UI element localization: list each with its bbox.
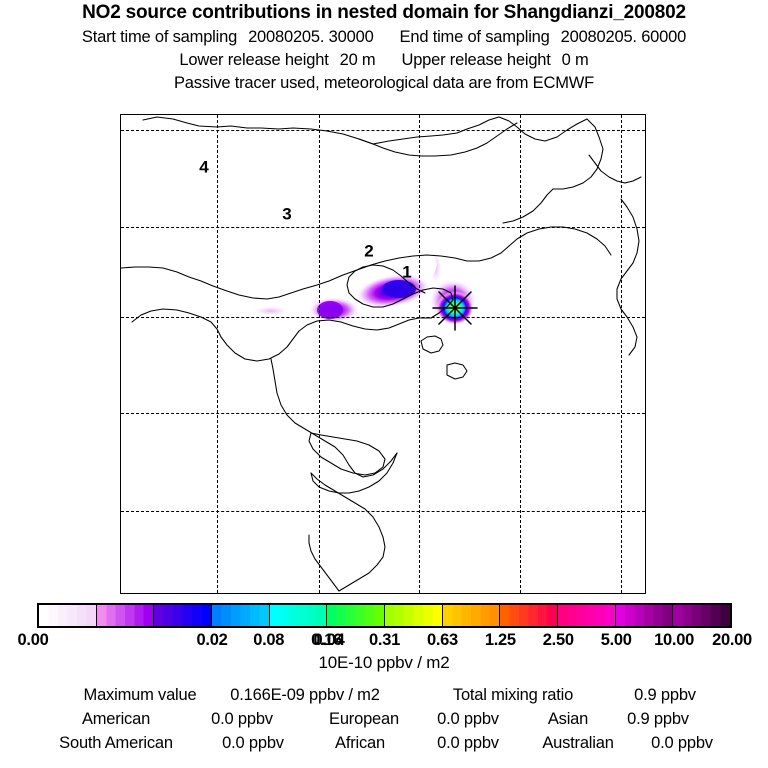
region-label-asian: Asian (548, 708, 588, 730)
trajectory-label-4: 4 (199, 159, 208, 176)
lower-release-label: Lower release height (179, 51, 328, 69)
end-time-label: End time of sampling (400, 28, 550, 46)
inland-boundary-2 (503, 189, 553, 223)
bohai-north-shore (509, 227, 611, 255)
colorbar-tick: 20.00 (712, 630, 752, 650)
offshore-islet (421, 336, 443, 353)
end-time-value: 20080205. 60000 (561, 28, 686, 46)
region-value-south-american: 0.0 ppbv (222, 732, 284, 754)
dispersion-plot-page: NO2 source contributions in nested domai… (0, 0, 768, 768)
trajectory-label-2: 2 (364, 243, 373, 260)
region-label-south-american: South American (59, 732, 173, 754)
upper-release-label: Upper release height (401, 51, 550, 69)
release-height-line: Lower release height20 mUpper release he… (0, 49, 768, 72)
region-value-australian: 0.0 ppbv (651, 732, 713, 754)
colorbar-tick: 2.50 (543, 630, 574, 650)
colorbar-segment (270, 605, 328, 626)
colorbar-tick: 0.63 (427, 630, 458, 650)
bohai-coast (132, 309, 431, 361)
tracer-note: Passive tracer used, meteorological data… (0, 72, 768, 95)
start-time-label: Start time of sampling (82, 28, 237, 46)
maximum-value-label: Maximum value (84, 684, 197, 706)
south-coast-inner (309, 535, 339, 591)
offshore-islet-2 (447, 363, 467, 379)
maximum-value: 0.166E-09 ppbv / m2 (230, 684, 379, 706)
colorbar-tick: 0.31 (369, 630, 400, 650)
colorbar-tick-labels: 0.000.020.040.080.160.310.631.252.505.00… (0, 630, 768, 652)
east-china-coast (271, 359, 397, 477)
colorbar-unit-label: 10E-10 ppbv / m2 (0, 652, 768, 674)
inland-boundary (553, 119, 603, 189)
colorbar-tick: 0.08 (253, 630, 284, 650)
total-mixing-ratio-label: Total mixing ratio (453, 684, 573, 706)
coastline-layer (121, 115, 644, 592)
colorbar-tick: 5.00 (601, 630, 632, 650)
region-label-african: African (335, 732, 385, 754)
colorbar-segment (154, 605, 212, 626)
northern-border (143, 117, 499, 144)
yangtze-estuary (309, 433, 385, 475)
region-label-european: European (329, 708, 399, 730)
sampling-time-line: Start time of sampling20080205. 30000End… (0, 26, 768, 49)
start-time-value: 20080205. 30000 (248, 28, 373, 46)
colorbar-tick: 1.25 (485, 630, 516, 650)
stats-row-summary: Maximum value 0.166E-09 ppbv / m2 Total … (0, 684, 768, 708)
northeast-border (499, 117, 587, 141)
plot-header: NO2 source contributions in nested domai… (0, 0, 768, 95)
colorbar-segment (97, 605, 155, 626)
total-mixing-ratio-value: 0.9 ppbv (634, 684, 696, 706)
south-coast-2 (311, 473, 385, 591)
region-label-american: American (82, 708, 150, 730)
colorbar-segment (558, 605, 616, 626)
trajectory-label-1: 1 (402, 264, 411, 281)
map-plot-area[interactable]: 1 2 3 4 (120, 114, 646, 594)
region-value-european: 0.0 ppbv (437, 708, 499, 730)
colorbar-tick: 0.16 (311, 630, 342, 650)
region-value-american: 0.0 ppbv (211, 708, 273, 730)
colorbar-segment (673, 605, 730, 626)
region-label-australian: Australian (542, 732, 613, 754)
colorbar-tick: 10.00 (654, 630, 694, 650)
korea-west-coast (617, 199, 639, 355)
stats-row-1: American 0.0 ppbv European 0.0 ppbv Asia… (0, 708, 768, 732)
colorbar-segment (385, 605, 443, 626)
lower-release-value: 20 m (340, 51, 376, 69)
stats-row-2: South American 0.0 ppbv African 0.0 ppbv… (0, 732, 768, 756)
trajectory-label-3: 3 (282, 206, 291, 223)
colorbar-segment (327, 605, 385, 626)
colorbar-tick: 0.00 (18, 630, 49, 650)
colorbar-segment (443, 605, 501, 626)
region-value-african: 0.0 ppbv (437, 732, 499, 754)
upper-release-value: 0 m (562, 51, 589, 69)
colorbar-tick: 0.02 (197, 630, 228, 650)
statistics-panel: Maximum value 0.166E-09 ppbv / m2 Total … (0, 684, 768, 756)
colorbar-segment (500, 605, 558, 626)
colorbar-segment (616, 605, 674, 626)
colorbar[interactable] (37, 603, 732, 628)
region-value-asian: 0.9 ppbv (627, 708, 689, 730)
page-title: NO2 source contributions in nested domai… (0, 0, 768, 26)
release-point-marker[interactable] (432, 285, 478, 331)
colorbar-segment (212, 605, 270, 626)
colorbar-segment (39, 605, 97, 626)
north-coast-arc (359, 123, 517, 156)
